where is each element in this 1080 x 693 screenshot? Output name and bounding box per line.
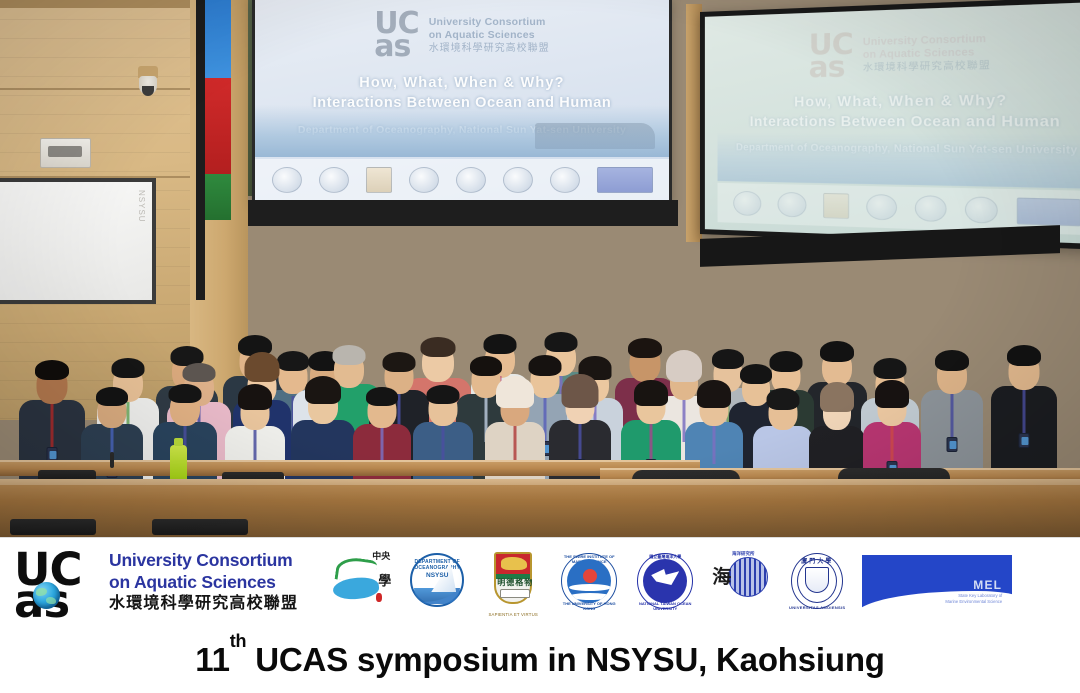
slide-title-line1: How, What, When & Why? — [255, 75, 669, 91]
logo-subtitle-line1: State Key Laboratory of — [958, 593, 1002, 598]
logo-zh-line: 明德格物 — [496, 577, 534, 588]
logo-zh-main: 學 — [378, 574, 391, 587]
security-camera-icon — [138, 66, 158, 78]
logo-inner-disc — [567, 559, 611, 603]
logo-subtitle: State Key Laboratory of Marine Environme… — [945, 593, 1002, 605]
group-photo: NSYSU UCas University Consortium on Aqua… — [0, 0, 1080, 537]
ucas-wordmark: UC as — [14, 549, 100, 615]
poster-blue — [205, 0, 231, 78]
logo-ring-text: 海洋研究所 — [716, 551, 770, 557]
logo-abbrev: MEL — [973, 578, 1002, 592]
logo-shield: 明德格物 — [494, 552, 532, 604]
logo-ring-text: DEPARTMENT OF OCEANOGRAPHY — [406, 559, 468, 571]
slide-ucas-mark: UCas — [374, 12, 418, 59]
ucas-zh-line: 水環境科學研究高校聯盟 — [109, 594, 298, 614]
microphone — [110, 452, 114, 468]
logo-zh-line: 廈門大學 — [786, 556, 848, 565]
ntou-logo: 國立臺灣海洋大學 NATIONAL TAIWAN OCEAN UNIVERSIT… — [634, 550, 696, 614]
slide-ship-graphic — [535, 123, 655, 149]
globe-icon — [728, 557, 768, 597]
universitas-amoiensis-logo: 廈門大學 UNIVERSITAS AMOIENSIS — [786, 550, 848, 614]
symposium-title-ordinal: th — [230, 631, 247, 651]
slide-org-line1: University Consortium — [429, 16, 550, 29]
front-desk-panel — [10, 519, 96, 535]
sun-icon — [583, 569, 597, 583]
front-desk-panel — [152, 519, 248, 535]
side-slide-org-zh: 水環境科學研究高校聯盟 — [863, 59, 991, 74]
map-accent-shape — [376, 593, 382, 602]
logo-shield-chief — [496, 554, 530, 574]
slide-ucas-logo: UCas University Consortium on Aquatic Sc… — [255, 12, 669, 59]
main-projector-screen: UCas University Consortium on Aquatic Sc… — [252, 0, 672, 204]
logo-zh-char: 海 — [712, 568, 731, 587]
wall-mounted-device — [40, 138, 91, 168]
logo-ring-text: UNIVERSITAS AMOIENSIS — [786, 605, 848, 610]
slide-org-line2: on Aquatic Sciences — [429, 29, 550, 42]
side-slide-ucas-logo: UCas University Consortium on Aquatic Sc… — [718, 25, 1080, 80]
side-slide-sea-graphic — [718, 132, 1080, 189]
side-slide-title-line1: How, What, When & Why? — [718, 92, 1080, 111]
poster-red — [205, 78, 231, 174]
logo-block: MEL State Key Laboratory of Marine Envir… — [862, 555, 1012, 609]
side-slide-ucas-mark: UCas — [809, 33, 853, 80]
globe-icon — [33, 582, 60, 609]
partner-logo-row: 中央 學 DEPARTMENT OF OCEANOGRAPHY NSYSU 明德… — [330, 550, 1012, 614]
swims-hku-logo: THE SWIRE INSTITUTE OF MARINE SCIENCE TH… — [558, 550, 620, 614]
logo-crest — [805, 567, 829, 593]
bottom-banner: UC as University Consortium on Aquatic S… — [0, 537, 1080, 692]
wave-icon — [569, 593, 611, 600]
mel-xmu-logo: MEL State Key Laboratory of Marine Envir… — [862, 553, 1012, 611]
logo-motto: SAPIENTIA ET VIRTUS — [488, 612, 538, 617]
ucas-en-line1: University Consortium — [109, 550, 298, 571]
ucas-en-line2: on Aquatic Sciences — [109, 572, 298, 593]
symposium-title-rest: UCAS symposium in NSYSU, Kaohsiung — [246, 641, 884, 678]
hai-globe-logo: 海洋研究所 海 — [710, 550, 772, 614]
lion-icon — [501, 557, 527, 570]
book-icon — [500, 589, 530, 598]
symposium-title-number: 11 — [195, 641, 230, 678]
banner-title-row: 11th UCAS symposium in NSYSU, Kaohsiung — [0, 626, 1080, 693]
logo-zh-top: 中央 — [372, 552, 390, 561]
hku-crest-logo: 明德格物 SAPIENTIA ET VIRTUS — [482, 550, 544, 614]
ucas-logo-text: University Consortium on Aquatic Science… — [109, 550, 298, 614]
slide-org-zh: 水環境科學研究高校聯盟 — [429, 42, 550, 55]
logo-ring-text-bottom: THE UNIVERSITY OF HONG KONG — [558, 601, 620, 611]
logo-subtitle-line2: Marine Environmental Science — [945, 599, 1002, 604]
banner-logo-row: UC as University Consortium on Aquatic S… — [0, 538, 1080, 626]
symposium-title: 11th UCAS symposium in NSYSU, Kaohsiung — [195, 641, 885, 679]
logo-ring-text-bottom: NATIONAL TAIWAN OCEAN UNIVERSITY — [634, 601, 696, 611]
desk-row-mid — [0, 460, 700, 476]
participants-crowd — [0, 190, 1080, 490]
side-slide-title-line2: Interactions Between Ocean and Human — [718, 113, 1080, 130]
ucas-logo: UC as University Consortium on Aquatic S… — [14, 549, 298, 615]
wave-icon — [569, 584, 611, 591]
taiwan-map-logo: 中央 學 — [330, 550, 392, 614]
nsysu-oceanography-logo: DEPARTMENT OF OCEANOGRAPHY NSYSU — [406, 550, 468, 614]
logo-abbrev: NSYSU — [406, 572, 468, 579]
